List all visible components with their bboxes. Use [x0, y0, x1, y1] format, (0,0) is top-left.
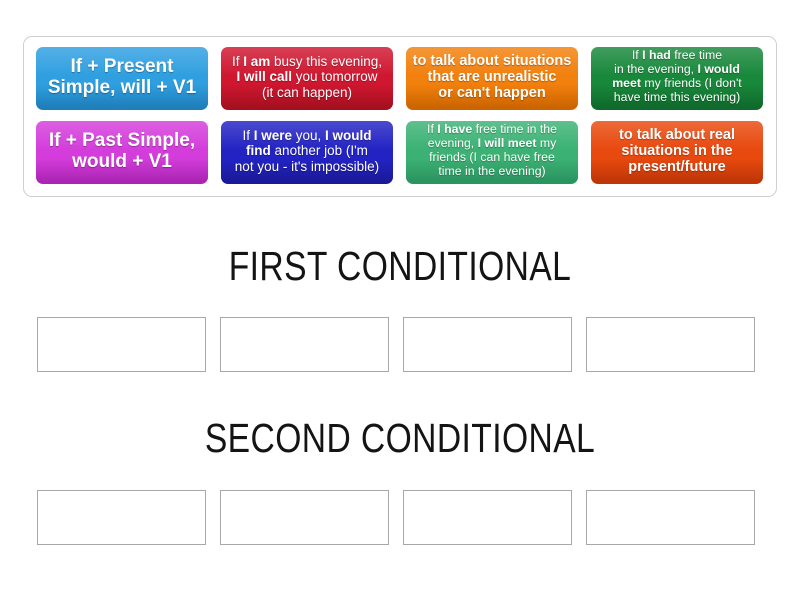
- dropzone-second-conditional-3[interactable]: [403, 490, 572, 545]
- tile-talk-about-unrealistic-situations[interactable]: to talk about situationsthat are unreali…: [406, 47, 578, 110]
- tile-label: to talk about situationsthat are unreali…: [413, 53, 572, 102]
- dropzone-first-conditional-2[interactable]: [220, 317, 389, 372]
- draggable-tiles-tray: If + PresentSimple, will + V1 If I am bu…: [23, 36, 777, 197]
- tile-if-past-simple-would-v1[interactable]: If + Past Simple,would + V1: [36, 121, 208, 184]
- tile-if-present-simple-will-v1[interactable]: If + PresentSimple, will + V1: [36, 47, 208, 110]
- tile-label: If I have free time in theevening, I wil…: [427, 123, 557, 178]
- dropzone-second-conditional-4[interactable]: [586, 490, 755, 545]
- dropzone-second-conditional-2[interactable]: [220, 490, 389, 545]
- tile-label: If I had free timein the evening, I woul…: [612, 49, 741, 104]
- tile-if-i-am-busy-this-evening[interactable]: If I am busy this evening,I will call yo…: [221, 47, 393, 110]
- tile-label: If I am busy this evening,I will call yo…: [232, 54, 382, 99]
- category-title-second-conditional: SECOND CONDITIONAL: [72, 415, 728, 462]
- dropzone-row-second-conditional: [37, 490, 763, 545]
- tile-label: If + PresentSimple, will + V1: [48, 56, 196, 99]
- tile-label: If + Past Simple,would + V1: [49, 130, 195, 173]
- category-title-first-conditional: FIRST CONDITIONAL: [72, 243, 728, 290]
- tile-label: to talk about realsituations in theprese…: [619, 127, 735, 176]
- tile-label: If I were you, I wouldfind another job (…: [235, 128, 379, 173]
- dropzone-row-first-conditional: [37, 317, 763, 372]
- tile-if-i-have-free-time[interactable]: If I have free time in theevening, I wil…: [406, 121, 578, 184]
- tile-talk-about-real-situations[interactable]: to talk about realsituations in theprese…: [591, 121, 763, 184]
- tile-row-bottom: If + Past Simple,would + V1 If I were yo…: [36, 121, 763, 184]
- dropzone-first-conditional-3[interactable]: [403, 317, 572, 372]
- tile-if-i-had-free-time[interactable]: If I had free timein the evening, I woul…: [591, 47, 763, 110]
- tile-row-top: If + PresentSimple, will + V1 If I am bu…: [36, 47, 763, 110]
- dropzone-second-conditional-1[interactable]: [37, 490, 206, 545]
- dropzone-first-conditional-1[interactable]: [37, 317, 206, 372]
- tile-if-i-were-you[interactable]: If I were you, I wouldfind another job (…: [221, 121, 393, 184]
- dropzone-first-conditional-4[interactable]: [586, 317, 755, 372]
